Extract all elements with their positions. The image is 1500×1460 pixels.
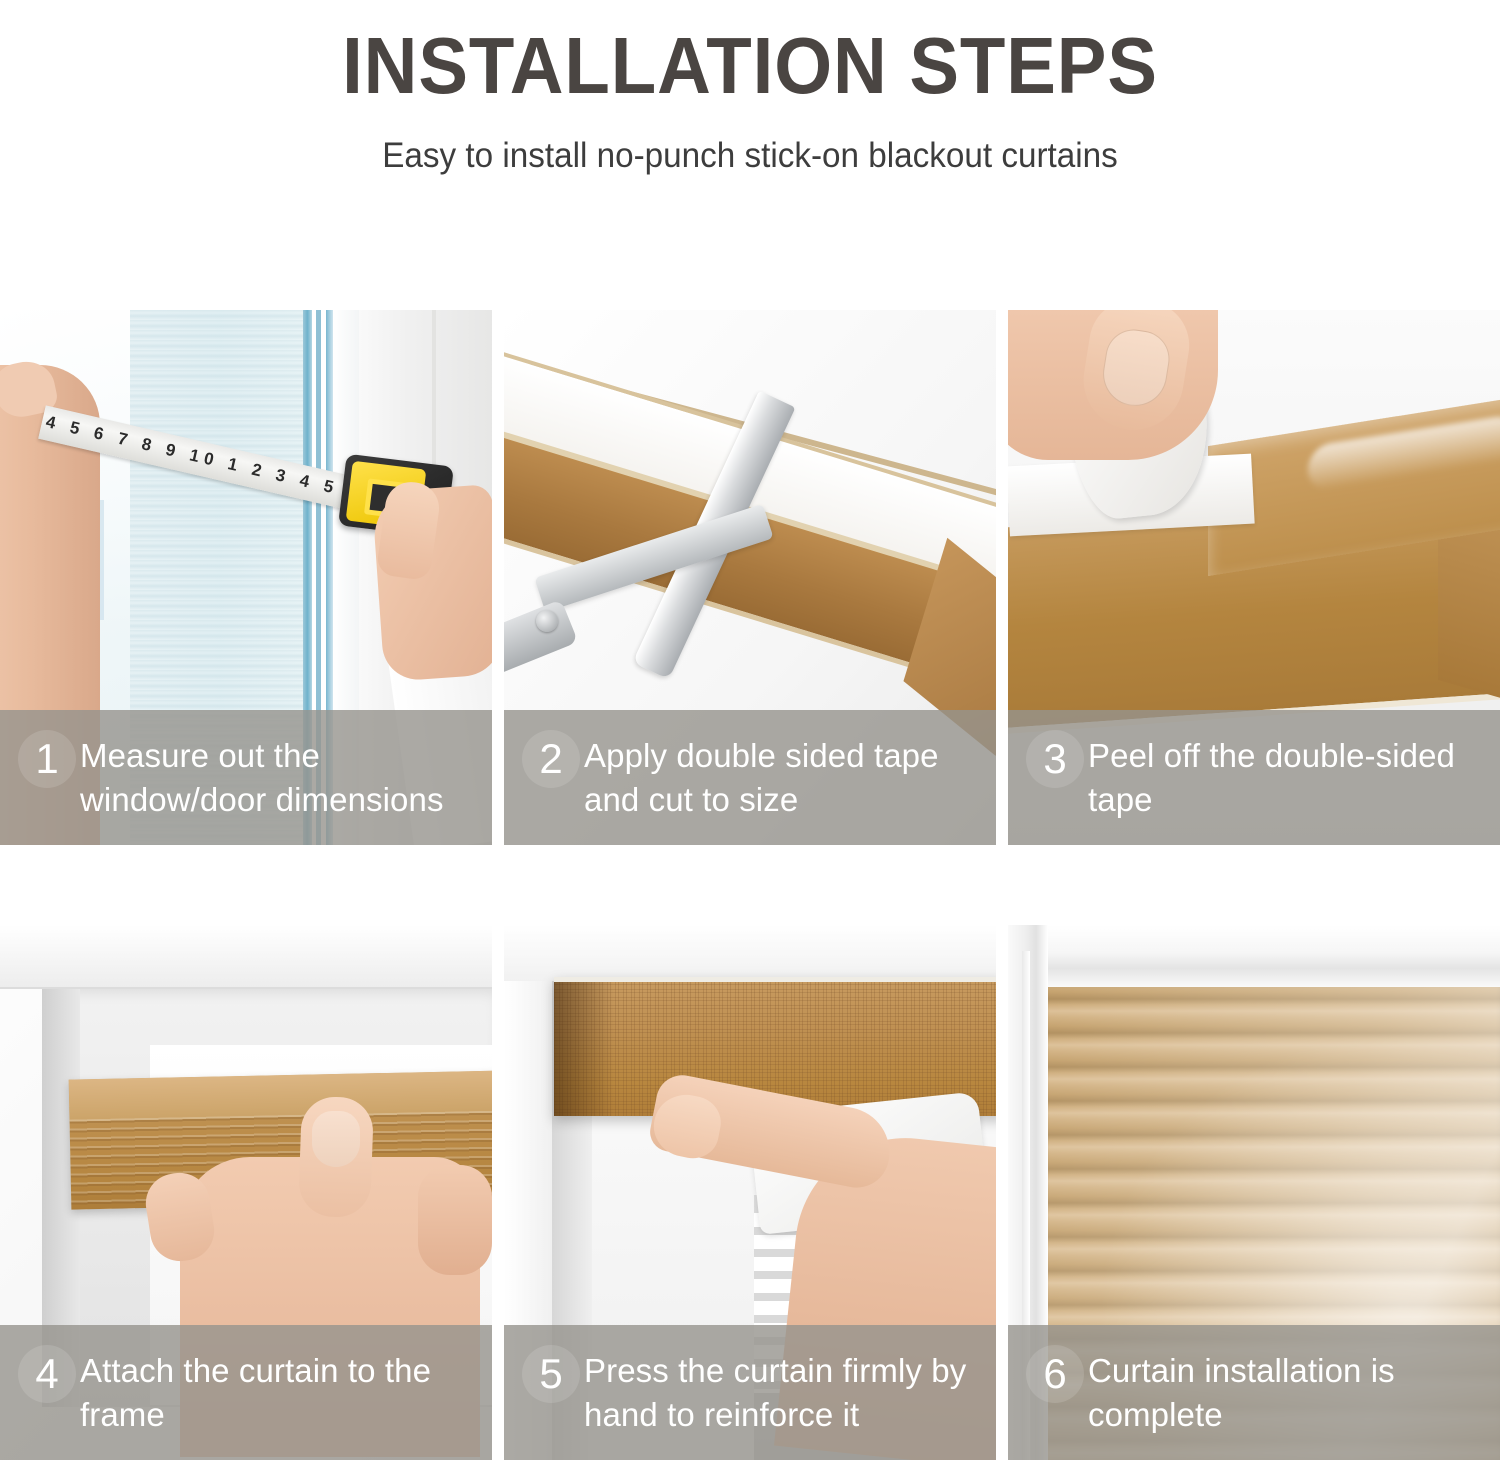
step-card-4[interactable]: 4 Attach the curtain to the frame bbox=[0, 925, 492, 1460]
step-caption-text-3: Peel off the double-sided tape bbox=[1088, 730, 1500, 821]
step-card-5[interactable]: 5 Press the curtain firmly by hand to re… bbox=[504, 925, 996, 1460]
step-caption-text-2: Apply double sided tape and cut to size bbox=[584, 730, 996, 821]
step-card-3[interactable]: 3 Peel off the double-sided tape bbox=[1008, 310, 1500, 845]
steps-grid: 4 5 6 7 8 9 10 1 2 3 4 5 6 7 8 9 20 1 2 … bbox=[0, 310, 1500, 1460]
page-subtitle: Easy to install no-punch stick-on blacko… bbox=[38, 136, 1463, 176]
step-number-2: 2 bbox=[539, 738, 562, 780]
step-caption-5: 5 Press the curtain firmly by hand to re… bbox=[504, 1325, 996, 1460]
step-number-4: 4 bbox=[35, 1353, 58, 1395]
step-badge-5: 5 bbox=[518, 1345, 584, 1403]
step-caption-text-1: Measure out the window/door dimensions bbox=[80, 730, 492, 821]
step-caption-2: 2 Apply double sided tape and cut to siz… bbox=[504, 710, 996, 845]
step-number-6: 6 bbox=[1043, 1353, 1066, 1395]
fingernail bbox=[312, 1111, 360, 1167]
step-caption-4: 4 Attach the curtain to the frame bbox=[0, 1325, 492, 1460]
step-caption-1: 1 Measure out the window/door dimensions bbox=[0, 710, 492, 845]
step-card-1[interactable]: 4 5 6 7 8 9 10 1 2 3 4 5 6 7 8 9 20 1 2 … bbox=[0, 310, 492, 845]
step-caption-3: 3 Peel off the double-sided tape bbox=[1008, 710, 1500, 845]
step-card-6[interactable]: 6 Curtain installation is complete bbox=[1008, 925, 1500, 1460]
step-badge-1: 1 bbox=[14, 730, 80, 788]
step-number-3: 3 bbox=[1043, 738, 1066, 780]
steps-row-2: 4 Attach the curtain to the frame bbox=[0, 925, 1500, 1460]
window-trim-top bbox=[1008, 925, 1500, 987]
step-card-2[interactable]: 2 Apply double sided tape and cut to siz… bbox=[504, 310, 996, 845]
scissors-pivot bbox=[536, 610, 558, 632]
step-caption-text-4: Attach the curtain to the frame bbox=[80, 1345, 492, 1436]
page-header: INSTALLATION STEPS Easy to install no-pu… bbox=[0, 0, 1500, 176]
step-badge-2: 2 bbox=[518, 730, 584, 788]
step-caption-6: 6 Curtain installation is complete bbox=[1008, 1325, 1500, 1460]
step-badge-4: 4 bbox=[14, 1345, 80, 1403]
step-number-5: 5 bbox=[539, 1353, 562, 1395]
step-badge-6: 6 bbox=[1022, 1345, 1088, 1403]
step-caption-text-5: Press the curtain firmly by hand to rein… bbox=[584, 1345, 996, 1436]
steps-row-1: 4 5 6 7 8 9 10 1 2 3 4 5 6 7 8 9 20 1 2 … bbox=[0, 310, 1500, 845]
step-caption-text-6: Curtain installation is complete bbox=[1088, 1345, 1500, 1436]
page-title: INSTALLATION STEPS bbox=[53, 24, 1448, 108]
step-number-1: 1 bbox=[35, 738, 58, 780]
step-badge-3: 3 bbox=[1022, 730, 1088, 788]
